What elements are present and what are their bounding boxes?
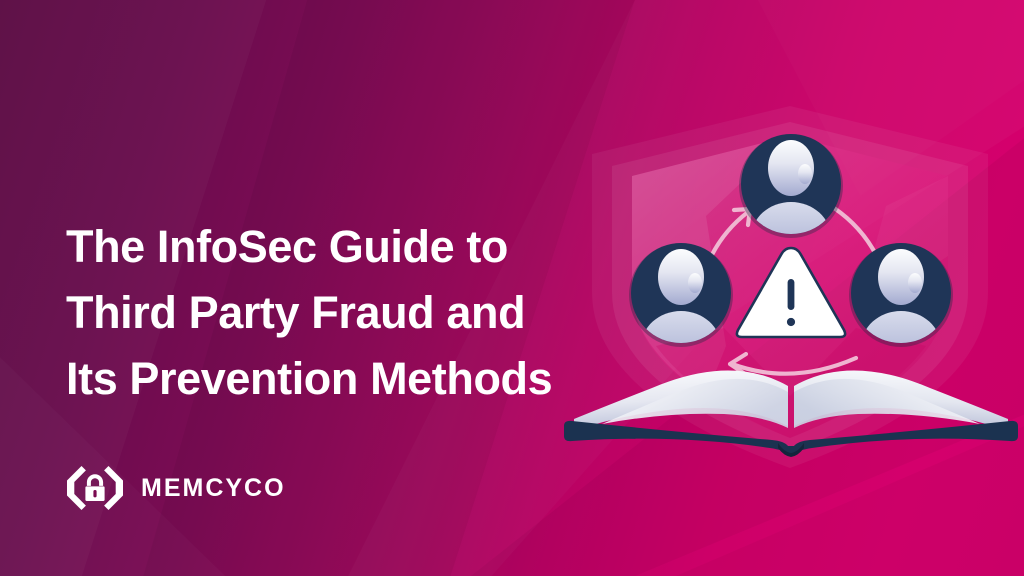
headline-line-1: The InfoSec Guide to xyxy=(66,214,626,280)
brand-logo[interactable]: MEMCYCO xyxy=(66,461,286,515)
logo-wordmark: MEMCYCO xyxy=(141,476,286,501)
page-title: The InfoSec Guide to Third Party Fraud a… xyxy=(66,214,626,412)
third-party-fraud-illustration xyxy=(556,96,1024,476)
banner-canvas: The InfoSec Guide to Third Party Fraud a… xyxy=(0,0,1024,576)
headline-line-2: Third Party Fraud and xyxy=(66,280,626,346)
chevron-lock-logo-icon xyxy=(66,461,124,515)
headline-line-3: Its Prevention Methods xyxy=(66,346,626,412)
